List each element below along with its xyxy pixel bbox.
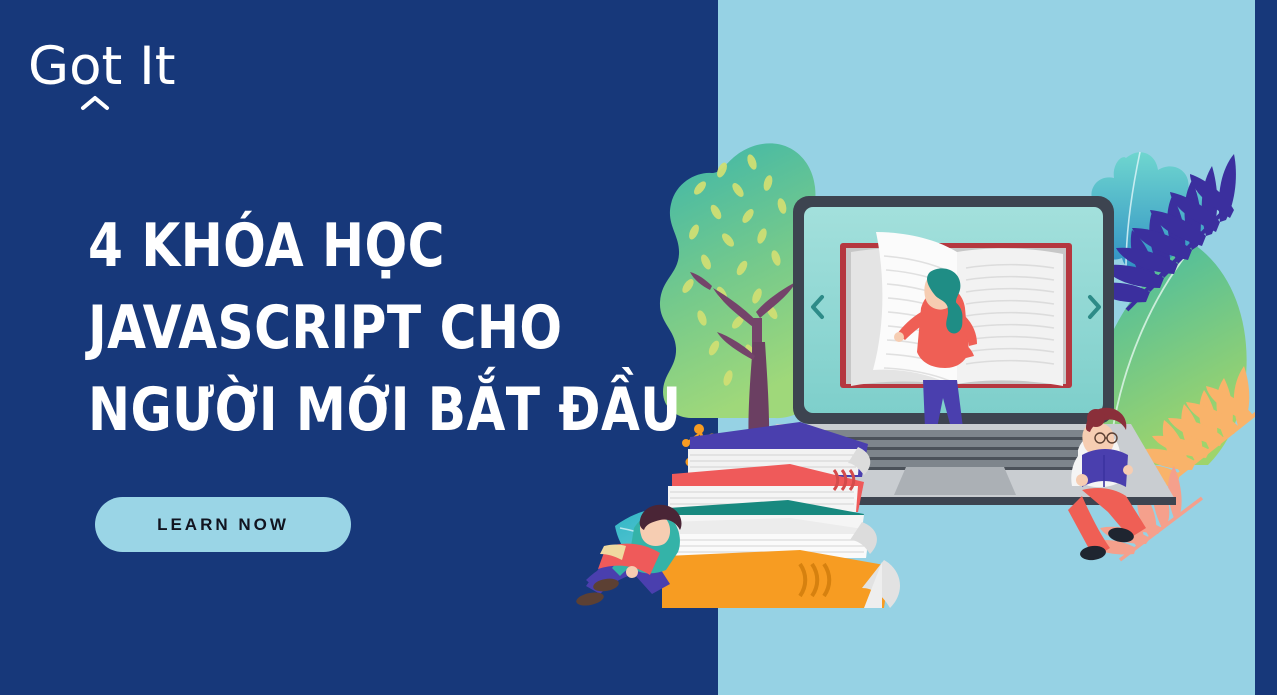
right-light-panel <box>716 0 1255 695</box>
brand-logo-text: Got It <box>28 40 176 93</box>
page-title: 4 KHÓA HỌC JAVASCRIPT CHO NGƯỜI MỚI BẮT … <box>88 205 688 451</box>
learn-now-button[interactable]: LEARN NOW <box>95 497 351 552</box>
headline-line-3: NGƯỜI MỚI BẮT ĐẦU <box>88 369 646 451</box>
brand-logo[interactable]: Got It <box>28 40 176 93</box>
headline-line-2: JAVASCRIPT CHO <box>88 287 646 369</box>
headline-line-1: 4 KHÓA HỌC <box>88 205 646 287</box>
promo-banner: Got It 4 KHÓA HỌC JAVASCRIPT CHO NGƯỜI M… <box>0 0 1277 695</box>
learn-now-label: LEARN NOW <box>157 515 289 535</box>
chevron-up-icon <box>80 94 110 111</box>
right-navy-edge <box>1255 0 1277 695</box>
